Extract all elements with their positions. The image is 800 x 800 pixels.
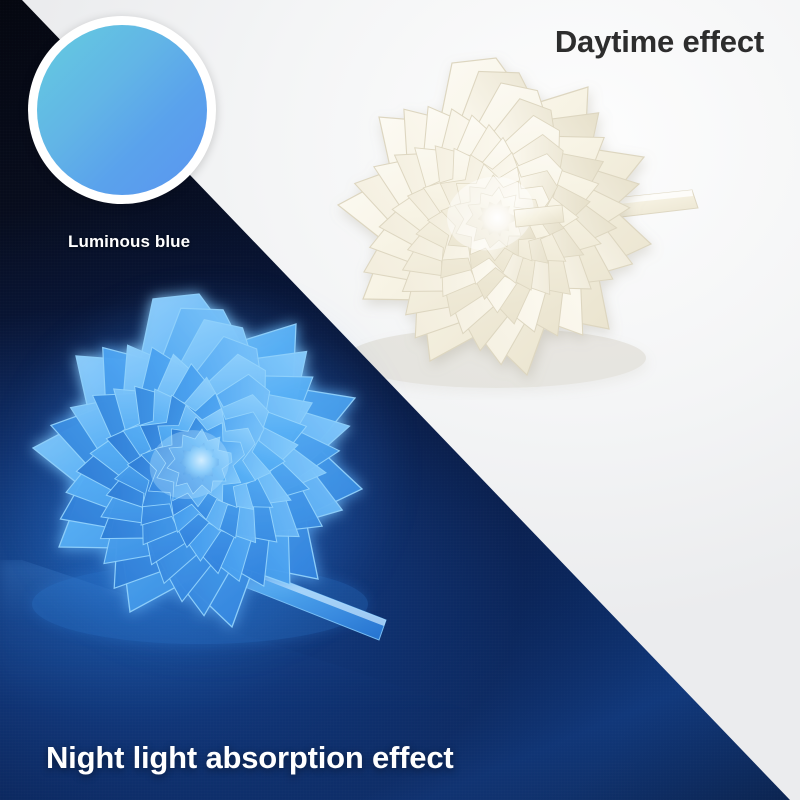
- luminous-blue-swatch: [28, 16, 216, 204]
- daytime-effect-heading: Daytime effect: [555, 24, 764, 60]
- color-swatch-circle: [37, 25, 207, 195]
- night-absorption-heading: Night light absorption effect: [46, 740, 454, 776]
- luminous-blue-label: Luminous blue: [68, 232, 190, 252]
- product-image-canvas: Luminous blue Daytime effect Night light…: [0, 0, 800, 800]
